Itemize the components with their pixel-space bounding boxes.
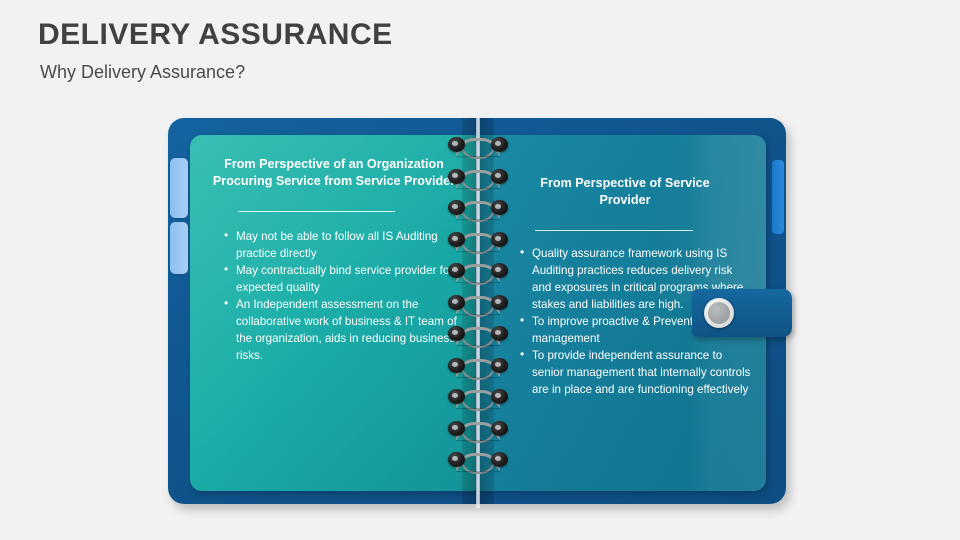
list-item: May contractually bind service provider … — [224, 262, 464, 296]
page-title: DELIVERY ASSURANCE — [38, 18, 393, 52]
notebook-clasp-button-icon[interactable] — [704, 298, 734, 328]
page-subtitle: Why Delivery Assurance? — [40, 62, 245, 83]
right-page-divider — [535, 230, 693, 231]
left-page: From Perspective of an Organization Proc… — [190, 135, 476, 491]
tab-left-1[interactable] — [170, 158, 188, 218]
list-item: May not be able to follow all IS Auditin… — [224, 228, 464, 262]
tab-right-1[interactable] — [772, 160, 784, 234]
notebook-clasp[interactable] — [692, 289, 792, 337]
tab-left-2[interactable] — [170, 222, 188, 274]
list-item: To provide independent assurance to seni… — [520, 347, 752, 398]
right-page-heading: From Perspective of Service Provider — [522, 175, 728, 208]
left-page-bullet-list: May not be able to follow all IS Auditin… — [224, 228, 464, 364]
left-page-heading: From Perspective of an Organization Proc… — [212, 156, 456, 189]
list-item: An Independent assessment on the collabo… — [224, 296, 464, 364]
notebook-graphic: From Perspective of an Organization Proc… — [168, 118, 786, 504]
left-page-divider — [238, 211, 395, 212]
